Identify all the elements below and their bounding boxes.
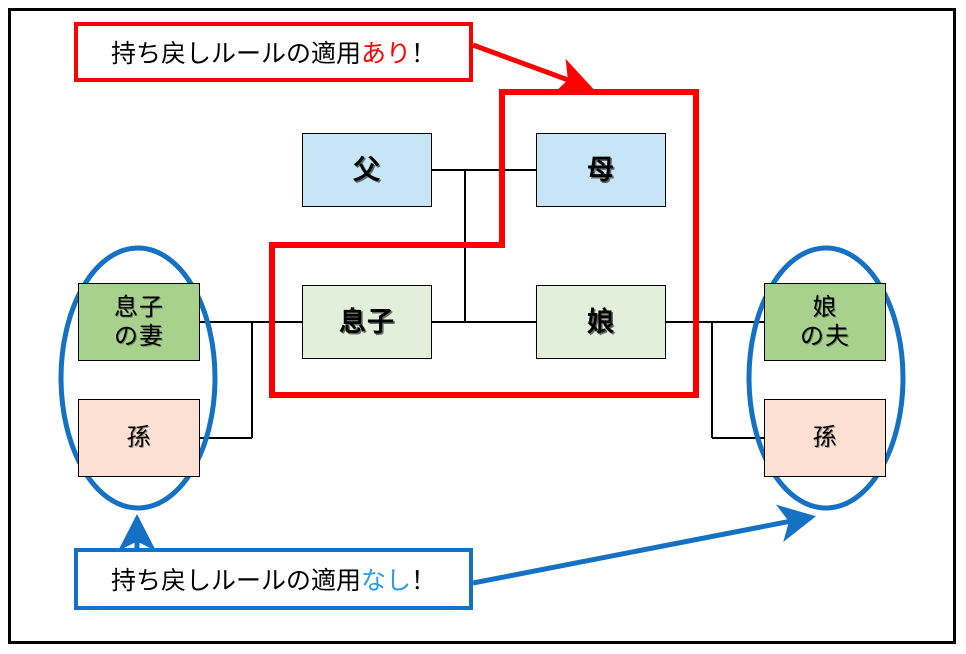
callout-highlight: なし bbox=[361, 561, 411, 597]
person-label-line2: の妻 bbox=[114, 322, 164, 351]
person-label: 娘 bbox=[587, 306, 615, 339]
person-box-daughter[interactable]: 娘 bbox=[536, 285, 666, 359]
diagram-canvas: 父 母 息子 娘 息子 の妻 孫 娘 の夫 孫 持ち戻しルールの適用あり！ 持ち… bbox=[0, 0, 966, 654]
callout-text-after: ！ bbox=[411, 561, 436, 597]
callout-text-before: 持ち戻しルールの適用 bbox=[111, 561, 361, 597]
callout-mochimodoshi-ari[interactable]: 持ち戻しルールの適用あり！ bbox=[74, 22, 473, 82]
callout-text-after: ！ bbox=[411, 34, 436, 70]
person-box-son[interactable]: 息子 bbox=[302, 285, 432, 359]
person-box-grandchild-right[interactable]: 孫 bbox=[764, 399, 886, 477]
person-box-grandchild-left[interactable]: 孫 bbox=[78, 399, 200, 477]
person-box-son-wife[interactable]: 息子 の妻 bbox=[78, 283, 200, 361]
person-label: 息子 bbox=[114, 293, 164, 322]
red-arrow-to-region bbox=[473, 45, 590, 88]
person-box-daughter-husband[interactable]: 娘 の夫 bbox=[764, 283, 886, 361]
person-label: 息子 bbox=[339, 306, 395, 339]
person-label: 孫 bbox=[813, 423, 838, 452]
person-box-father[interactable]: 父 bbox=[302, 133, 432, 207]
callout-text-before: 持ち戻しルールの適用 bbox=[111, 34, 361, 70]
person-label: 孫 bbox=[127, 423, 152, 452]
person-label: 娘 bbox=[813, 293, 838, 322]
person-box-mother[interactable]: 母 bbox=[536, 133, 666, 207]
callout-highlight: あり bbox=[361, 34, 411, 70]
callout-mochimodoshi-nashi[interactable]: 持ち戻しルールの適用なし！ bbox=[74, 548, 473, 610]
person-label-line2: の夫 bbox=[800, 322, 850, 351]
person-label: 母 bbox=[587, 154, 615, 187]
person-label: 父 bbox=[353, 154, 381, 187]
